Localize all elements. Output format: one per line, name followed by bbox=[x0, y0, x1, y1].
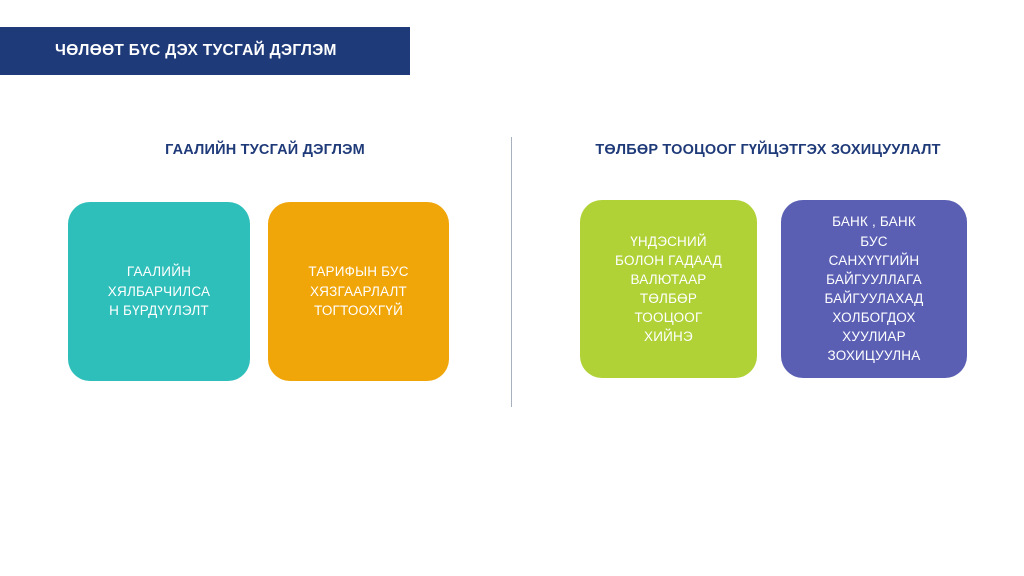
left-column-heading: ГААЛИЙН ТУСГАЙ ДЭГЛЭМ bbox=[70, 141, 460, 159]
card-currency-settlement-label: ҮНДЭСНИЙ БОЛОН ГАДААД ВАЛЮТААР ТӨЛБӨР ТО… bbox=[615, 232, 722, 347]
card-nontariff-restriction: ТАРИФЫН БУС ХЯЗГААРЛАЛТ ТОГТООХГҮЙ bbox=[268, 202, 449, 381]
slide-title: ЧӨЛӨӨТ БҮС ДЭХ ТУСГАЙ ДЭГЛЭМ bbox=[55, 42, 337, 60]
card-bank-regulation-label: БАНК , БАНК БУС САНХҮҮГИЙН БАЙГУУЛЛАГА Б… bbox=[825, 212, 924, 365]
card-bank-regulation: БАНК , БАНК БУС САНХҮҮГИЙН БАЙГУУЛЛАГА Б… bbox=[781, 200, 967, 378]
right-column-heading: ТӨЛБӨР ТООЦООГ ГҮЙЦЭТГЭХ ЗОХИЦУУЛАЛТ bbox=[568, 141, 968, 159]
card-customs-simplified: ГААЛИЙН ХЯЛБАРЧИЛСА Н БҮРДҮҮЛЭЛТ bbox=[68, 202, 250, 381]
slide-title-banner: ЧӨЛӨӨТ БҮС ДЭХ ТУСГАЙ ДЭГЛЭМ bbox=[0, 27, 410, 75]
card-customs-simplified-label: ГААЛИЙН ХЯЛБАРЧИЛСА Н БҮРДҮҮЛЭЛТ bbox=[108, 262, 210, 322]
column-divider bbox=[511, 137, 512, 407]
card-currency-settlement: ҮНДЭСНИЙ БОЛОН ГАДААД ВАЛЮТААР ТӨЛБӨР ТО… bbox=[580, 200, 757, 378]
card-nontariff-restriction-label: ТАРИФЫН БУС ХЯЗГААРЛАЛТ ТОГТООХГҮЙ bbox=[308, 262, 408, 322]
